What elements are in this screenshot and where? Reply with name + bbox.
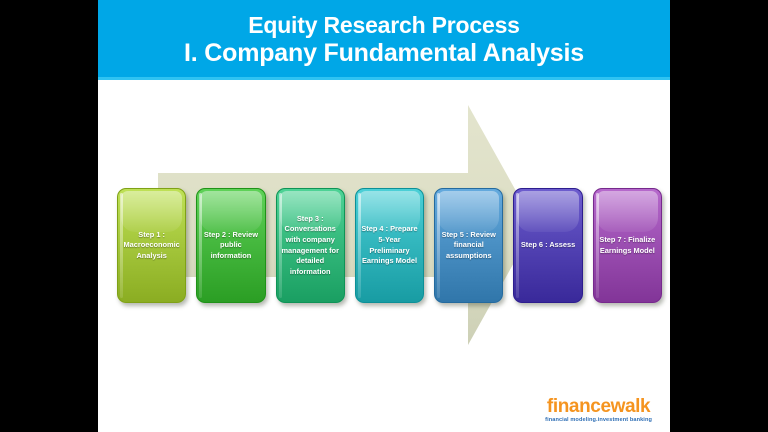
step-label-1: Step 1 : Macroeconomic Analysis: [118, 230, 185, 262]
process-step-list: Step 1 : Macroeconomic Analysis Step 2 :…: [117, 188, 662, 303]
brand-logo: financewalk financial modeling.investmen…: [545, 397, 652, 424]
brand-logo-tagline: financial modeling.investment banking: [545, 418, 652, 424]
slide-header: Equity Research Process I. Company Funda…: [98, 0, 670, 80]
step-chip-7[interactable]: Step 7 : Finalize Earnings Model: [593, 188, 662, 303]
step-chip-2[interactable]: Step 2 : Review public information: [196, 188, 265, 303]
step-chip-3[interactable]: Step 3 : Conversations with company mana…: [276, 188, 345, 303]
step-chip-5[interactable]: Step 5 : Review financial assumptions: [434, 188, 503, 303]
slide-title-line-1: Equity Research Process: [248, 12, 520, 39]
step-label-7: Step 7 : Finalize Earnings Model: [594, 235, 661, 256]
step-label-4: Step 4 : Prepare 5-Year Preliminary Earn…: [356, 224, 423, 266]
step-chip-4[interactable]: Step 4 : Prepare 5-Year Preliminary Earn…: [355, 188, 424, 303]
brand-logo-name: financewalk: [545, 397, 652, 416]
presentation-slide: Equity Research Process I. Company Funda…: [98, 0, 670, 432]
slide-title-line-2: I. Company Fundamental Analysis: [184, 39, 584, 68]
letterbox-bar-left: [0, 0, 98, 432]
letterbox-bar-right: [670, 0, 768, 432]
step-label-5: Step 5 : Review financial assumptions: [435, 230, 502, 262]
step-chip-1[interactable]: Step 1 : Macroeconomic Analysis: [117, 188, 186, 303]
step-label-2: Step 2 : Review public information: [197, 230, 264, 262]
video-player-frame: Equity Research Process I. Company Funda…: [0, 0, 768, 432]
step-label-3: Step 3 : Conversations with company mana…: [277, 214, 344, 277]
step-chip-6[interactable]: Step 6 : Assess: [513, 188, 582, 303]
step-label-6: Step 6 : Assess: [517, 240, 579, 251]
